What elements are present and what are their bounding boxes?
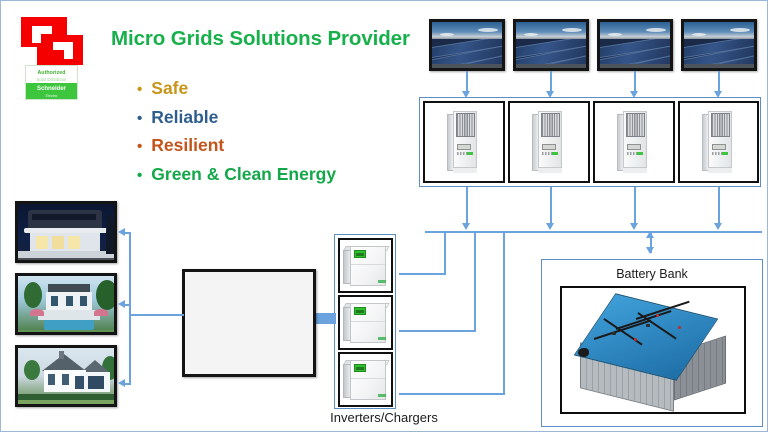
arrow-down-icon — [462, 223, 470, 230]
list-item-label: Green & Clean Energy — [151, 163, 336, 185]
wire-solar-to-cc — [634, 71, 636, 93]
wire-panel-to-loads — [129, 314, 184, 316]
list-item: • Resilient — [137, 134, 336, 158]
wire-solar-to-cc — [718, 71, 720, 93]
benefits-list: • Safe • Reliable • Resilient • Green & … — [137, 77, 336, 191]
list-item: • Reliable — [137, 106, 336, 130]
list-item-label: Safe — [151, 77, 188, 99]
badge-brand: Schneider — [26, 83, 77, 94]
electrical-panel-photo — [182, 269, 316, 377]
load-house-photo — [15, 273, 117, 335]
wire-cc-to-bus — [718, 187, 720, 223]
arrow-down-icon — [546, 223, 554, 230]
inverter-charger[interactable] — [338, 238, 393, 293]
load-house-photo — [15, 345, 117, 407]
inverter-charger[interactable] — [338, 352, 393, 407]
inverters-chargers-label: Inverters/Chargers — [304, 410, 464, 425]
arrow-down-icon — [646, 247, 654, 254]
charge-controller-group — [419, 97, 761, 187]
wire-panel-to-loads — [125, 383, 131, 385]
authorized-distributor-badge: Authorized Solar Distributor Schneider E… — [25, 65, 78, 100]
charge-controller[interactable] — [593, 101, 675, 183]
solar-array-photo — [681, 19, 757, 71]
wire-solar-to-cc — [550, 71, 552, 93]
bullet-dot-icon: • — [137, 165, 142, 187]
solar-array-photo — [429, 19, 505, 71]
wire-bus-to-inverter — [399, 273, 446, 275]
wire-bus-to-inverter — [399, 330, 476, 332]
wire-bus-to-inverter — [474, 231, 476, 331]
list-item-label: Resilient — [151, 134, 224, 156]
inverter-charger[interactable] — [338, 295, 393, 350]
wire-bus-to-inverter — [503, 231, 505, 394]
ac-feed-bar — [314, 313, 336, 324]
wire-solar-to-cc — [466, 71, 468, 93]
schneider-electric-logo — [21, 17, 83, 65]
badge-line1: Authorized — [26, 66, 77, 77]
wire-cc-to-bus — [634, 187, 636, 223]
arrow-left-icon — [118, 379, 125, 387]
list-item: • Green & Clean Energy — [137, 163, 336, 187]
arrow-left-icon — [118, 228, 125, 236]
battery-bank-panel: Battery Bank — [541, 259, 763, 427]
bullet-dot-icon: • — [137, 136, 142, 158]
battery-bank-photo — [560, 286, 746, 414]
bullet-dot-icon: • — [137, 108, 142, 130]
wire-cc-to-bus — [466, 187, 468, 223]
battery-bank-label: Battery Bank — [542, 267, 762, 281]
list-item-label: Reliable — [151, 106, 218, 128]
arrow-left-icon — [118, 300, 125, 308]
arrow-up-icon — [646, 231, 654, 238]
wire-panel-to-loads — [125, 232, 131, 234]
charge-controller[interactable] — [508, 101, 590, 183]
list-item: • Safe — [137, 77, 336, 101]
load-house-photo — [15, 201, 117, 263]
wire-cc-to-bus — [550, 187, 552, 223]
solar-array-photo — [513, 19, 589, 71]
arrow-down-icon — [714, 223, 722, 230]
slide-canvas: Authorized Solar Distributor Schneider E… — [0, 0, 768, 432]
wire-bus-to-inverter — [399, 393, 505, 395]
bullet-dot-icon: • — [137, 79, 142, 101]
charge-controller[interactable] — [678, 101, 759, 183]
solar-array-photo — [597, 19, 673, 71]
wire-panel-to-loads — [129, 232, 131, 384]
badge-brand-sub: Electric — [26, 94, 77, 98]
wire-panel-to-loads — [125, 304, 131, 306]
wire-bus-to-inverter — [444, 231, 446, 274]
page-title: Micro Grids Solutions Provider — [111, 27, 410, 51]
inverter-charger-group — [334, 234, 396, 409]
arrow-down-icon — [630, 223, 638, 230]
charge-controller[interactable] — [423, 101, 505, 183]
